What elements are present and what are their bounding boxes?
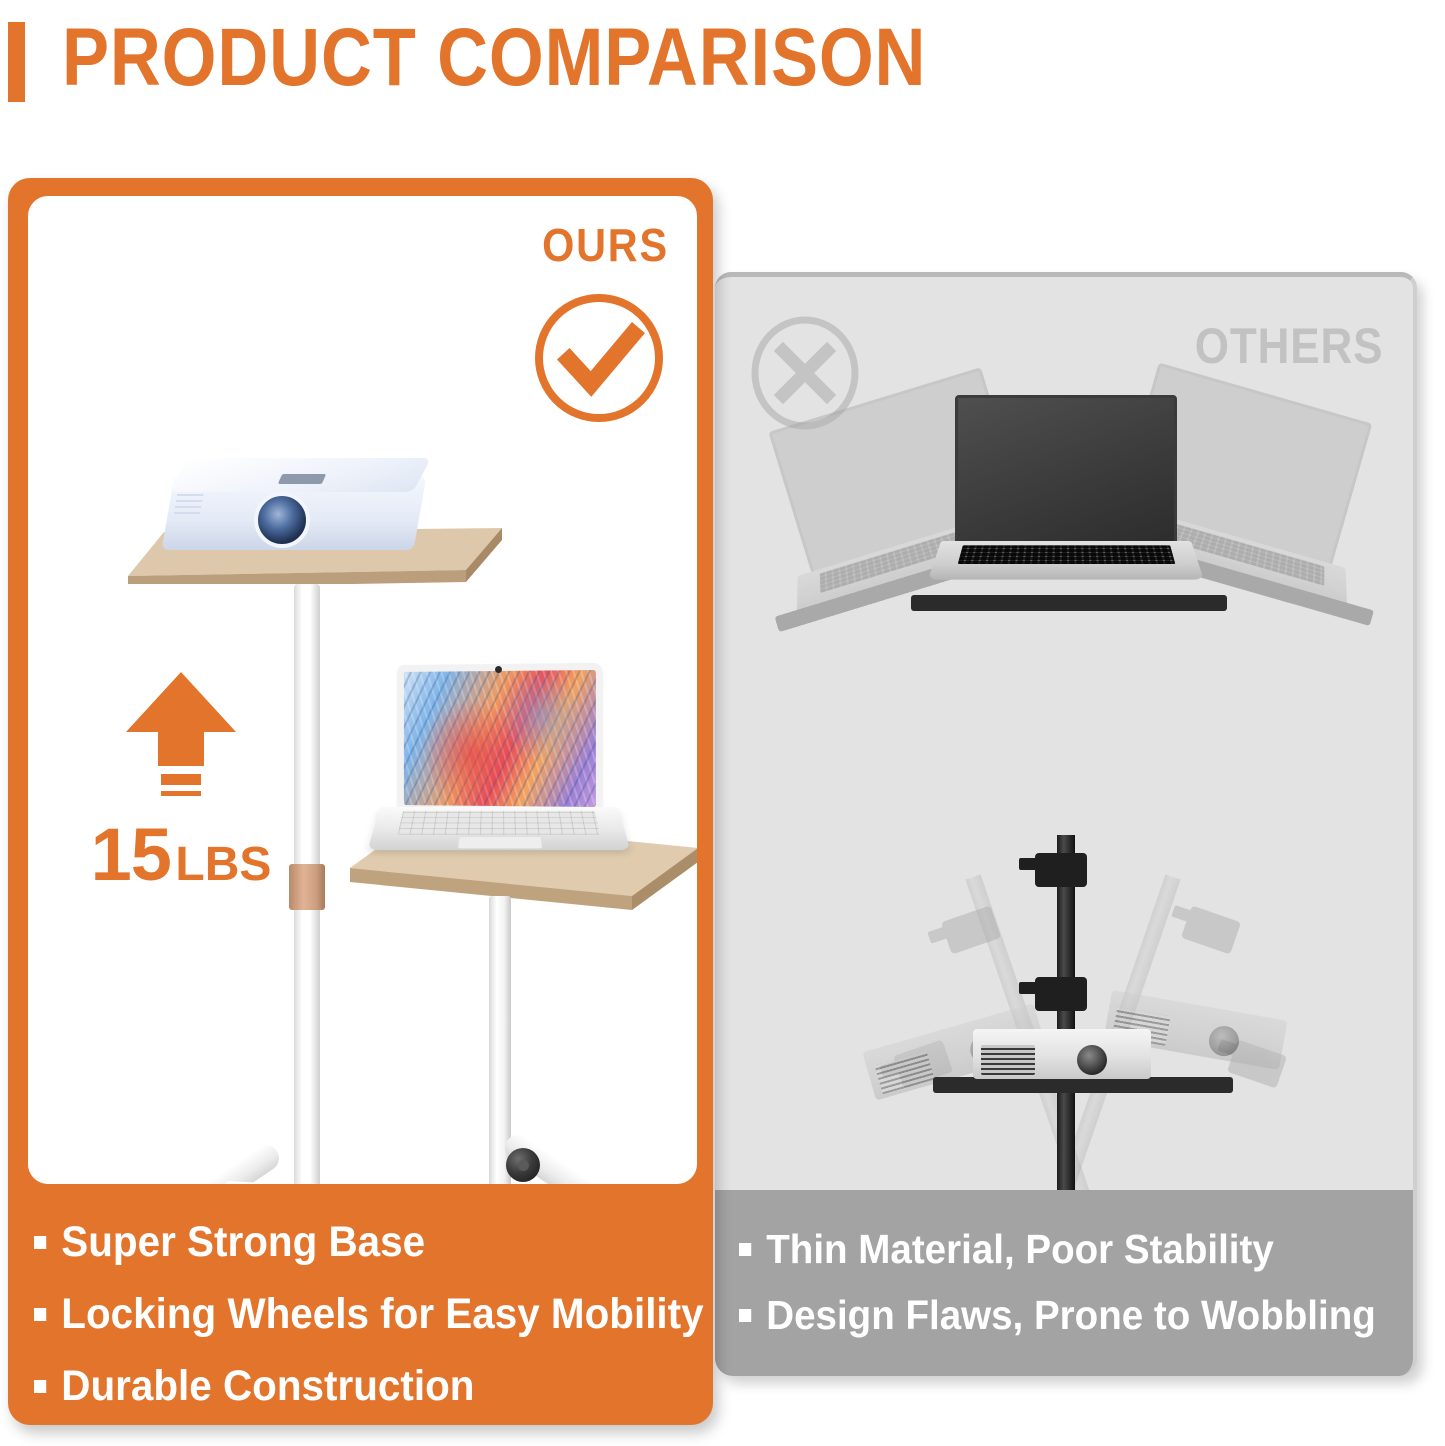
list-item: Thin Material, Poor Stability [739,1216,1373,1282]
projector-focus-slot-icon [278,474,326,484]
clamp-knob-icon [1035,853,1087,887]
laptop-icon [941,395,1191,610]
laptop-keyboard-deck [368,807,631,850]
bullet-square-icon [739,1309,751,1322]
page-header: PRODUCT COMPARISON [0,8,1445,112]
list-item: Super Strong Base [34,1206,654,1278]
projector-icon [168,458,420,550]
pole-collar-icon [289,864,325,910]
ours-panel: OURS 15 LBS [8,178,713,1425]
bullet-square-icon [739,1243,751,1256]
ours-bullet-list: Super Strong Base Locking Wheels for Eas… [34,1206,694,1422]
laptop-lid [398,663,602,815]
laptop-screen-wallpaper [404,670,596,807]
clamp-knob-icon [1035,977,1087,1011]
clamp-knob-ghost-icon [1181,905,1241,954]
ours-product-card: OURS 15 LBS [22,190,703,1190]
webcam-icon [495,666,502,673]
bullet-square-icon [34,1236,46,1249]
list-item: Locking Wheels for Easy Mobility [34,1278,654,1350]
bullet-square-icon [34,1308,46,1321]
projector-icon [973,1021,1151,1081]
bullet-square-icon [34,1380,46,1393]
trackpad-icon [457,836,543,848]
keyboard-icon [398,811,601,834]
list-item: Design Flaws, Prone to Wobbling [739,1282,1373,1348]
locking-caster-wheel-icon [506,1148,540,1182]
ours-product-illustration [28,196,703,1190]
list-item: Durable Construction [34,1350,654,1422]
others-bullet-list: Thin Material, Poor Stability Design Fla… [715,1190,1413,1376]
laptop-icon [378,664,618,894]
page-title: PRODUCT COMPARISON [62,10,926,106]
others-panel: OTHERS [715,272,1417,1376]
vertical-bar-icon [8,22,25,102]
projector-lens-icon [254,492,310,548]
